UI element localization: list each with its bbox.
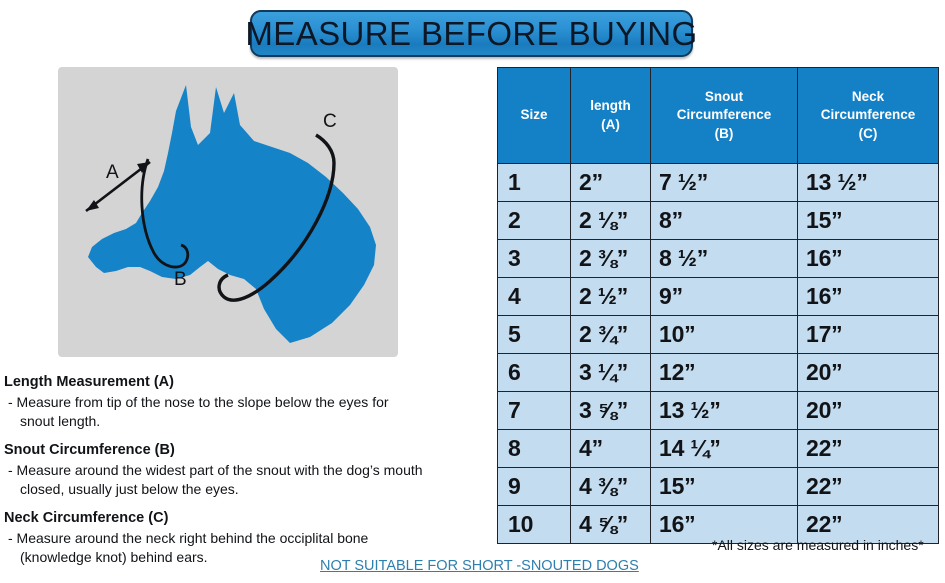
cell-size: 1 <box>498 164 571 202</box>
note-snout-circumference: Snout Circumference (B) - Measure around… <box>4 441 484 498</box>
note-body: - Measure from tip of the nose to the sl… <box>4 393 484 430</box>
page-title: MEASURE BEFORE BUYING <box>245 15 697 53</box>
cell-size: 5 <box>498 316 571 354</box>
cell-snout: 10” <box>651 316 798 354</box>
cell-neck: 20” <box>798 354 939 392</box>
note-title: Neck Circumference (C) <box>4 509 484 527</box>
table-row: 7 3 ⅝” 13 ½” 20” <box>498 392 939 430</box>
cell-neck: 22” <box>798 430 939 468</box>
note-line-1: - Measure from tip of the nose to the sl… <box>8 394 389 410</box>
table-row: 6 3 ¼” 12” 20” <box>498 354 939 392</box>
cell-length: 4” <box>571 430 651 468</box>
cell-size: 6 <box>498 354 571 392</box>
cell-snout: 15” <box>651 468 798 506</box>
note-line-2: closed, usually just below the eyes. <box>8 480 484 498</box>
measurement-instructions: Length Measurement (A) - Measure from ti… <box>4 373 484 577</box>
table-body: 1 2” 7 ½” 13 ½” 2 2 ⅛” 8” 15” 3 2 ⅜” 8 ½… <box>498 164 939 544</box>
column-header-length: length (A) <box>571 68 651 164</box>
cell-length: 4 ⅜” <box>571 468 651 506</box>
table-row: 4 2 ½” 9” 16” <box>498 278 939 316</box>
cell-neck: 16” <box>798 278 939 316</box>
cell-neck: 15” <box>798 202 939 240</box>
cell-size: 4 <box>498 278 571 316</box>
dog-measurement-diagram: A B C <box>58 67 398 357</box>
cell-length: 2 ½” <box>571 278 651 316</box>
cell-snout: 8” <box>651 202 798 240</box>
cell-snout: 8 ½” <box>651 240 798 278</box>
cell-neck: 13 ½” <box>798 164 939 202</box>
note-title: Length Measurement (A) <box>4 373 484 391</box>
table-header-row: Size length (A) Snout Circumference (B) … <box>498 68 939 164</box>
label-a: A <box>106 162 119 183</box>
table-row: 5 2 ¾” 10” 17” <box>498 316 939 354</box>
column-header-snout-circumference: Snout Circumference (B) <box>651 68 798 164</box>
cell-snout: 14 ¼” <box>651 430 798 468</box>
cell-size: 10 <box>498 506 571 544</box>
size-chart-table: Size length (A) Snout Circumference (B) … <box>497 67 939 544</box>
page-title-banner: MEASURE BEFORE BUYING <box>250 10 693 57</box>
column-header-neck-circumference: Neck Circumference (C) <box>798 68 939 164</box>
cell-length: 3 ¼” <box>571 354 651 392</box>
label-b: B <box>174 269 187 290</box>
cell-snout: 7 ½” <box>651 164 798 202</box>
table-row: 9 4 ⅜” 15” 22” <box>498 468 939 506</box>
cell-neck: 16” <box>798 240 939 278</box>
table-row: 1 2” 7 ½” 13 ½” <box>498 164 939 202</box>
cell-snout: 9” <box>651 278 798 316</box>
cell-length: 4 ⅝” <box>571 506 651 544</box>
cell-length: 2” <box>571 164 651 202</box>
cell-size: 3 <box>498 240 571 278</box>
units-footnote: *All sizes are measured in inches* <box>712 537 924 553</box>
dog-head-illustration: A B C <box>58 67 398 357</box>
table-row: 2 2 ⅛” 8” 15” <box>498 202 939 240</box>
table-row: 3 2 ⅜” 8 ½” 16” <box>498 240 939 278</box>
not-suitable-warning: NOT SUITABLE FOR SHORT -SNOUTED DOGS <box>320 558 639 574</box>
note-line-1: - Measure around the widest part of the … <box>8 462 423 478</box>
cell-neck: 20” <box>798 392 939 430</box>
cell-length: 2 ⅜” <box>571 240 651 278</box>
note-body: - Measure around the widest part of the … <box>4 461 484 498</box>
cell-length: 2 ¾” <box>571 316 651 354</box>
cell-snout: 13 ½” <box>651 392 798 430</box>
cell-size: 7 <box>498 392 571 430</box>
table-row: 8 4” 14 ¼” 22” <box>498 430 939 468</box>
label-c: C <box>323 111 337 132</box>
cell-length: 3 ⅝” <box>571 392 651 430</box>
cell-size: 8 <box>498 430 571 468</box>
cell-neck: 17” <box>798 316 939 354</box>
cell-length: 2 ⅛” <box>571 202 651 240</box>
cell-size: 2 <box>498 202 571 240</box>
column-header-size: Size <box>498 68 571 164</box>
cell-neck: 22” <box>798 468 939 506</box>
cell-size: 9 <box>498 468 571 506</box>
note-title: Snout Circumference (B) <box>4 441 484 459</box>
cell-snout: 12” <box>651 354 798 392</box>
note-length-measurement: Length Measurement (A) - Measure from ti… <box>4 373 484 430</box>
note-line-2: snout length. <box>8 412 484 430</box>
note-line-1: - Measure around the neck right behind t… <box>8 530 368 546</box>
